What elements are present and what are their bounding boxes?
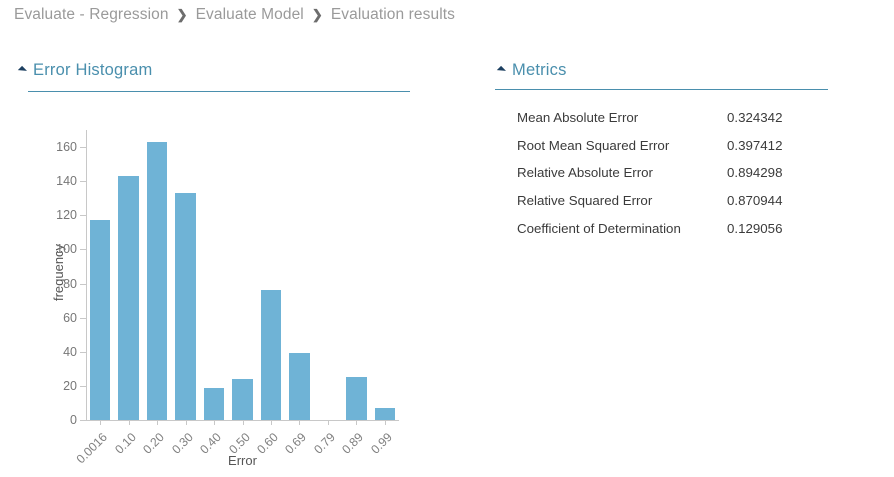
y-tick-mark <box>80 147 86 148</box>
panel-header-metrics[interactable]: Metrics <box>497 61 567 80</box>
panel-divider-error-histogram <box>28 91 410 92</box>
y-tick-label: 120 <box>56 208 77 222</box>
metrics-row: Coefficient of Determination0.129056 <box>517 215 817 243</box>
metrics-row: Relative Absolute Error0.894298 <box>517 159 817 187</box>
y-tick-label: 60 <box>63 311 77 325</box>
metric-name: Mean Absolute Error <box>517 104 727 132</box>
y-axis-line <box>86 130 87 420</box>
y-tick-mark <box>80 318 86 319</box>
plot-area: 0204060801001201401600.00160.100.200.300… <box>86 130 399 420</box>
y-tick-mark <box>80 386 86 387</box>
y-tick-label: 80 <box>63 277 77 291</box>
histogram-bar[interactable] <box>261 290 281 420</box>
histogram-bar[interactable] <box>204 388 224 420</box>
metrics-table: Mean Absolute Error0.324342Root Mean Squ… <box>517 104 817 242</box>
breadcrumb-chevron-icon: ❯ <box>177 7 188 23</box>
y-tick-mark <box>80 352 86 353</box>
metric-value: 0.870944 <box>727 187 817 215</box>
collapse-caret-icon[interactable] <box>497 66 506 75</box>
x-tick-mark <box>129 420 130 425</box>
panel-title-error-histogram: Error Histogram <box>33 61 152 80</box>
x-tick-mark <box>299 420 300 425</box>
x-tick-mark <box>100 420 101 425</box>
histogram-bar[interactable] <box>232 379 252 420</box>
metric-value: 0.129056 <box>727 215 817 243</box>
x-tick-mark <box>385 420 386 425</box>
metric-value: 0.324342 <box>727 104 817 132</box>
metric-value: 0.894298 <box>727 159 817 187</box>
breadcrumb-item-0[interactable]: Evaluate - Regression <box>14 6 169 24</box>
metrics-row: Relative Squared Error0.870944 <box>517 187 817 215</box>
x-tick-mark <box>243 420 244 425</box>
y-tick-label: 160 <box>56 140 77 154</box>
y-tick-label: 100 <box>56 242 77 256</box>
y-tick-mark <box>80 249 86 250</box>
metric-name: Root Mean Squared Error <box>517 132 727 160</box>
histogram-bar[interactable] <box>289 353 309 420</box>
x-tick-mark <box>186 420 187 425</box>
breadcrumb: Evaluate - Regression ❯ Evaluate Model ❯… <box>14 6 455 24</box>
histogram-bar[interactable] <box>147 142 167 420</box>
error-histogram-chart: frequency Error 0204060801001201401600.0… <box>0 110 470 477</box>
x-tick-mark <box>214 420 215 425</box>
x-tick-mark <box>328 420 329 425</box>
y-tick-label: 40 <box>63 345 77 359</box>
breadcrumb-chevron-icon: ❯ <box>312 7 323 23</box>
panel-divider-metrics <box>495 89 828 90</box>
metric-value: 0.397412 <box>727 132 817 160</box>
x-tick-mark <box>157 420 158 425</box>
histogram-bar[interactable] <box>175 193 195 420</box>
metric-name: Relative Squared Error <box>517 187 727 215</box>
histogram-bar[interactable] <box>118 176 138 420</box>
collapse-caret-icon[interactable] <box>18 66 27 75</box>
breadcrumb-item-1[interactable]: Evaluate Model <box>196 6 304 24</box>
histogram-bar[interactable] <box>90 220 110 420</box>
x-tick-mark <box>356 420 357 425</box>
y-tick-label: 20 <box>63 379 77 393</box>
y-tick-mark <box>80 181 86 182</box>
panel-title-metrics: Metrics <box>512 61 567 80</box>
y-tick-mark <box>80 420 86 421</box>
metrics-row: Mean Absolute Error0.324342 <box>517 104 817 132</box>
breadcrumb-item-2[interactable]: Evaluation results <box>331 6 455 24</box>
x-tick-mark <box>271 420 272 425</box>
y-tick-label: 140 <box>56 174 77 188</box>
metric-name: Relative Absolute Error <box>517 159 727 187</box>
metric-name: Coefficient of Determination <box>517 215 727 243</box>
metrics-row: Root Mean Squared Error0.397412 <box>517 132 817 160</box>
histogram-bar[interactable] <box>346 377 366 420</box>
y-tick-mark <box>80 284 86 285</box>
histogram-bar[interactable] <box>375 408 395 420</box>
y-tick-mark <box>80 215 86 216</box>
y-tick-label: 0 <box>70 413 77 427</box>
panel-header-error-histogram[interactable]: Error Histogram <box>18 61 152 80</box>
